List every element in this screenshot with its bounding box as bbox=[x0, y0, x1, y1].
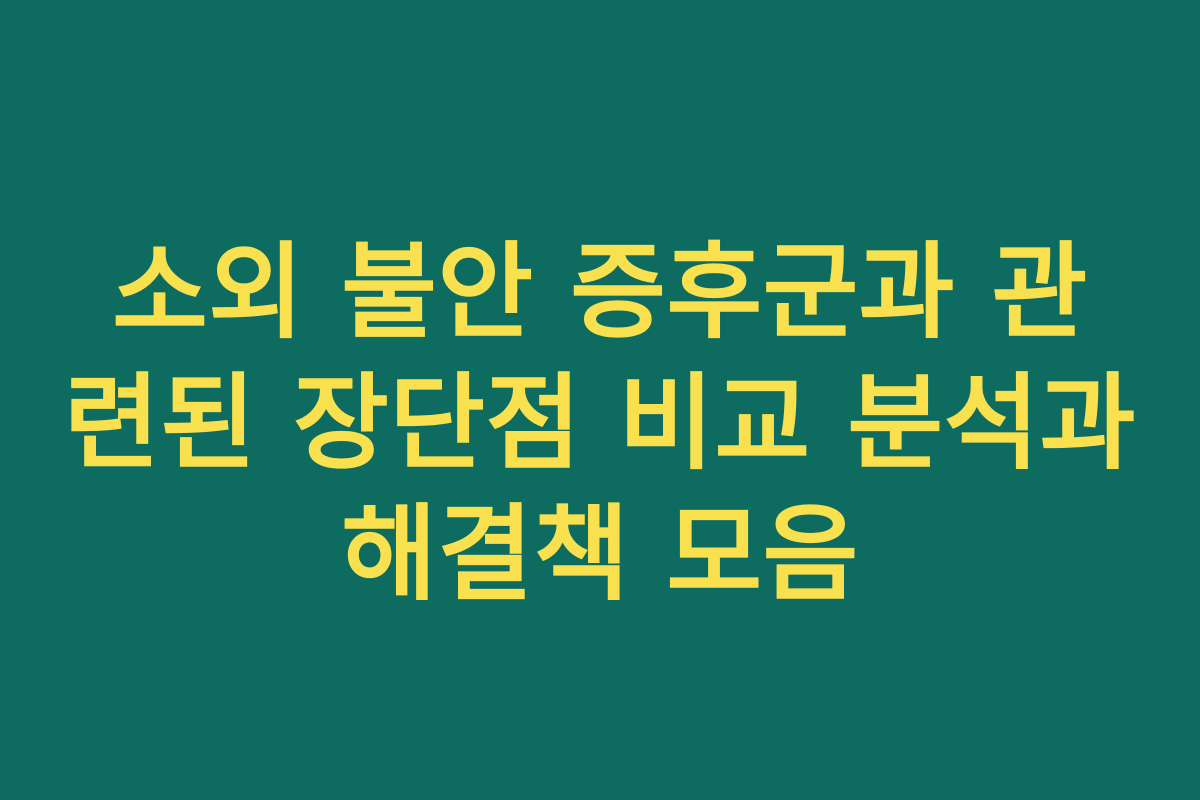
headline-line-3: 해결책 모음 bbox=[50, 489, 1150, 620]
page-title: 소외 불안 증후군과 관 련된 장단점 비교 분석과 해결책 모음 bbox=[50, 227, 1150, 620]
headline-line-1: 소외 불안 증후군과 관 bbox=[50, 227, 1150, 358]
title-card: 소외 불안 증후군과 관 련된 장단점 비교 분석과 해결책 모음 bbox=[0, 0, 1200, 800]
headline-line-2: 련된 장단점 비교 분석과 bbox=[50, 358, 1150, 489]
